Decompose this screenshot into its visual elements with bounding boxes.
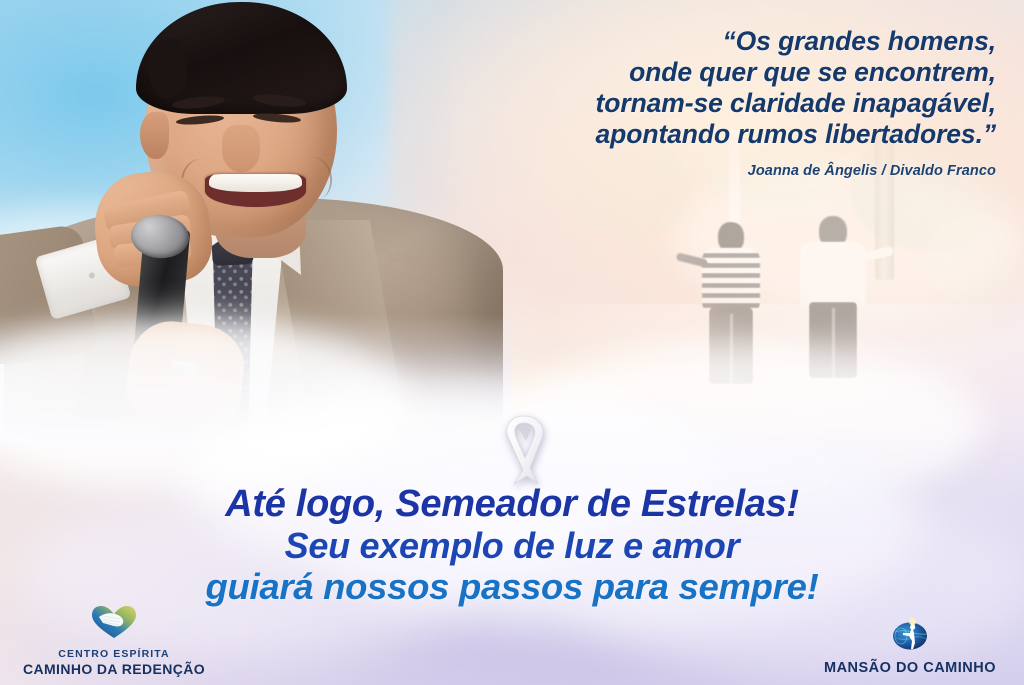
white-ribbon-icon xyxy=(492,410,556,488)
headline-line-1: Até logo, Semeador de Estrelas! xyxy=(0,484,1024,525)
logo-mansao-do-caminho: MANSÃO DO CAMINHO xyxy=(810,612,1010,677)
heart-hands-icon xyxy=(14,604,214,645)
figure-torso-white xyxy=(800,242,866,306)
globe-figure-flame-icon xyxy=(810,612,1010,657)
figure-torso-striped xyxy=(702,248,760,310)
logo-centro-espirita: CENTRO ESPÍRITA CAMINHO DA REDENÇÃO xyxy=(14,604,214,677)
hair xyxy=(136,2,347,114)
nose xyxy=(222,125,260,172)
figure-legs xyxy=(709,308,753,384)
headline-line-3: guiará nossos passos para sempre! xyxy=(0,566,1024,607)
headline-line-2: Seu exemplo de luz e amor xyxy=(0,525,1024,566)
memorial-poster: “Os grandes homens, onde quer que se enc… xyxy=(0,0,1024,685)
quote-attribution: Joanna de Ângelis / Divaldo Franco xyxy=(476,163,996,179)
walking-figure xyxy=(795,216,871,394)
logo-left-line-1: CENTRO ESPÍRITA xyxy=(14,648,214,661)
logo-right-line-1: MANSÃO DO CAMINHO xyxy=(810,660,1010,677)
ground xyxy=(560,346,1024,430)
quote-line-4: apontando rumos libertadores.” xyxy=(476,119,996,150)
wall xyxy=(560,304,1024,352)
walking-figure xyxy=(696,222,766,394)
logo-left-line-2: CAMINHO DA REDENÇÃO xyxy=(14,661,214,677)
ear xyxy=(140,112,169,159)
smiling-mouth xyxy=(205,174,306,206)
quote-line-1: “Os grandes homens, xyxy=(476,26,996,57)
teeth xyxy=(209,174,302,192)
portrait-bottom-fade xyxy=(0,314,512,443)
quote-block: “Os grandes homens, onde quer que se enc… xyxy=(476,26,996,179)
figure-legs xyxy=(809,302,857,378)
quote-line-2: onde quer que se encontrem, xyxy=(476,57,996,88)
foliage xyxy=(927,214,1024,304)
headline-block: Até logo, Semeador de Estrelas! Seu exem… xyxy=(0,484,1024,607)
quote-line-3: tornam-se claridade inapagável, xyxy=(476,88,996,119)
portrait-divaldo-franco xyxy=(0,0,474,426)
